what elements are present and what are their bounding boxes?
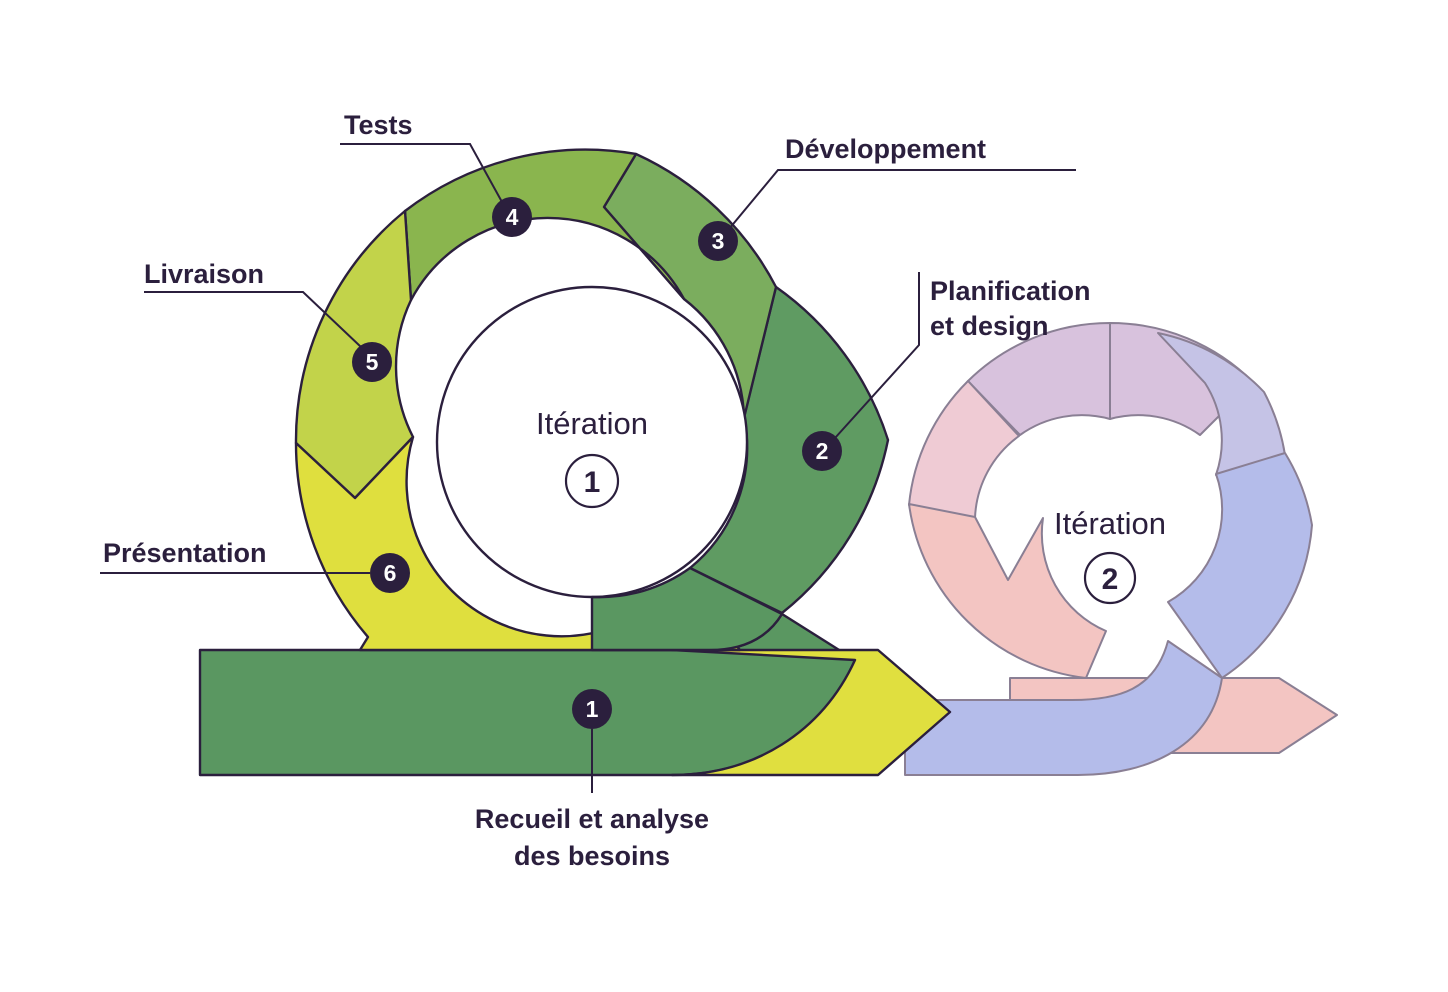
label-presentation: Présentation	[103, 538, 267, 568]
badge-4-number: 4	[506, 204, 519, 230]
label-tests: Tests	[344, 110, 413, 140]
badge-6-number: 6	[384, 560, 397, 586]
badge-5[interactable]: 5	[352, 342, 392, 382]
iteration1-number: 1	[584, 466, 601, 499]
iteration2-number: 2	[1102, 563, 1119, 596]
label-recueil-line1: Recueil et analyse	[475, 804, 709, 834]
iteration2-segment-periwinkle	[1168, 453, 1312, 678]
label-livraison: Livraison	[144, 259, 264, 289]
badge-1-number: 1	[586, 696, 599, 722]
iteration-2-group	[905, 323, 1337, 775]
label-planification-line1: Planification	[930, 276, 1091, 306]
iteration1-label: Itération	[536, 406, 648, 441]
iteration1-inner-disc	[437, 287, 747, 597]
iteration2-center-text: Itération 2	[1054, 506, 1166, 603]
iteration2-label: Itération	[1054, 506, 1166, 541]
agile-cycle-svg: 1 2 3 4 5 6 Tests Déve	[0, 0, 1448, 992]
badge-4[interactable]: 4	[492, 197, 532, 237]
badge-2-number: 2	[816, 438, 829, 464]
leader-line-developpement	[729, 170, 1076, 229]
badge-1[interactable]: 1	[572, 689, 612, 729]
badge-3-number: 3	[712, 228, 725, 254]
badge-6[interactable]: 6	[370, 553, 410, 593]
diagram-canvas: 1 2 3 4 5 6 Tests Déve	[0, 0, 1448, 992]
badge-5-number: 5	[366, 349, 379, 375]
label-developpement: Développement	[785, 134, 986, 164]
badge-3[interactable]: 3	[698, 221, 738, 261]
label-recueil-line2: des besoins	[514, 841, 670, 871]
label-planification-line2: et design	[930, 311, 1049, 341]
